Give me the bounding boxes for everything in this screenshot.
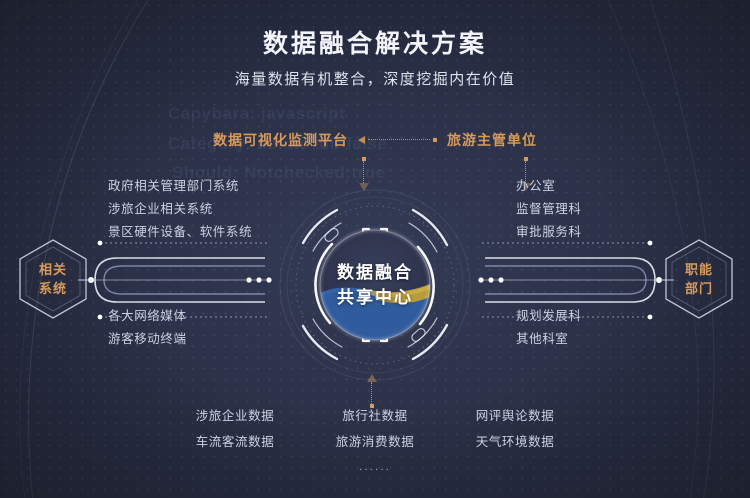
hexagon-functional-departments[interactable]: 职能 部门 (660, 235, 738, 323)
data-row-1: 涉旅企业数据 旅行社数据 网评舆论数据 (187, 405, 563, 424)
list-item: 政府相关管理部门系统 (108, 175, 252, 198)
hub-label: 数据融合 共享中心 (275, 185, 475, 385)
list-item: 其他科室 (516, 328, 582, 351)
left-sources-top-list: 政府相关管理部门系统 涉旅企业相关系统 景区硬件设备、软件系统 (108, 175, 252, 244)
hexagon-right-line2: 部门 (685, 279, 713, 298)
dot-endpoint-icon (433, 138, 437, 142)
arrow-left-icon (358, 136, 365, 144)
hub-label-line2: 共享中心 (337, 285, 413, 310)
right-departments-top-list: 办公室 监督管理科 审批服务科 (516, 175, 582, 244)
hexagon-left-line2: 系统 (39, 279, 67, 298)
data-ellipsis: ...... (359, 459, 391, 473)
data-cell: 网评舆论数据 (467, 405, 563, 424)
data-cell: 车流客流数据 (187, 431, 283, 450)
data-cell: 涉旅企业数据 (187, 405, 283, 424)
dotted-arrow-connector (358, 136, 437, 144)
label-visualization-platform: 数据可视化监测平台 (213, 130, 348, 150)
dotted-line-vertical (371, 382, 373, 404)
list-item: 涉旅企业相关系统 (108, 198, 252, 221)
hexagon-right-label: 职能 部门 (660, 235, 738, 323)
page-title: 数据融合解决方案 (0, 24, 750, 60)
label-tourism-authority: 旅游主管单位 (447, 130, 537, 150)
list-item: 各大网络媒体 (108, 305, 187, 328)
hub-label-line1: 数据融合 (337, 260, 413, 285)
right-departments-bottom-list: 规划发展科 其他科室 (516, 305, 582, 351)
list-item: 监督管理科 (516, 198, 582, 221)
list-item: 游客移动终端 (108, 328, 187, 351)
list-item: 景区硬件设备、软件系统 (108, 221, 252, 244)
bottom-data-sources-grid: 涉旅企业数据 旅行社数据 网评舆论数据 车流客流数据 旅游消费数据 天气环境数据… (0, 405, 750, 473)
list-item: 办公室 (516, 175, 582, 198)
data-row-2: 车流客流数据 旅游消费数据 天气环境数据 (187, 431, 563, 450)
hexagon-related-systems[interactable]: 相关 系统 (14, 235, 92, 323)
list-item: 审批服务科 (516, 221, 582, 244)
dotted-line (368, 139, 430, 141)
data-cell: 天气环境数据 (467, 431, 563, 450)
page-subtitle: 海量数据有机整合，深度挖掘内在价值 (0, 68, 750, 89)
infographic-canvas: Capybara: javascript Category: delete al… (0, 0, 750, 498)
data-cell: 旅行社数据 (327, 405, 423, 424)
list-item: 规划发展科 (516, 305, 582, 328)
dotted-line-vertical (363, 161, 365, 183)
data-fusion-hub[interactable]: 数据融合 共享中心 (275, 185, 475, 385)
hexagon-left-label: 相关 系统 (14, 235, 92, 323)
data-cell: 旅游消费数据 (327, 431, 423, 450)
top-label-row: 数据可视化监测平台 旅游主管单位 (0, 130, 750, 150)
hexagon-right-line1: 职能 (685, 260, 713, 279)
hexagon-left-line1: 相关 (39, 260, 67, 279)
watermark-line-1: Capybara: javascript (168, 104, 345, 124)
left-sources-bottom-list: 各大网络媒体 游客移动终端 (108, 305, 187, 351)
